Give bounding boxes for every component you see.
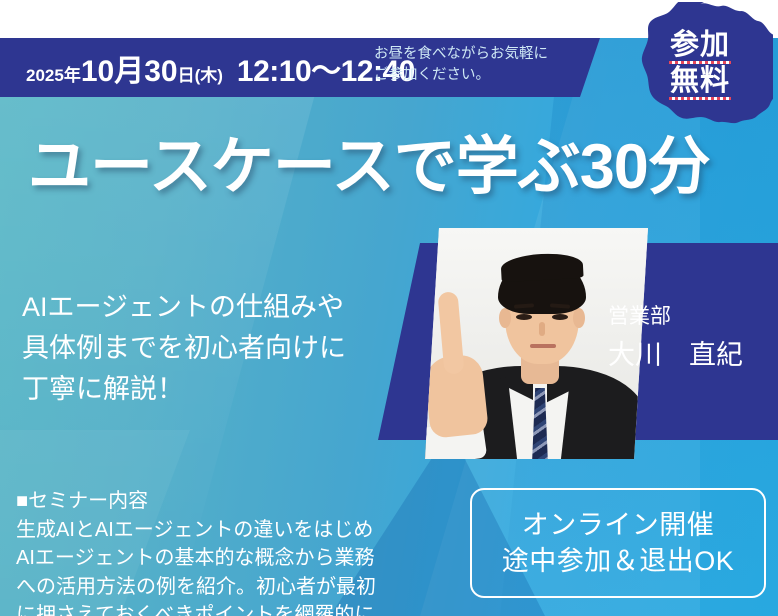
photo-eye-left (516, 314, 532, 320)
online-format: オンライン開催 (522, 507, 715, 543)
seminar-body: 生成AIとAIエージェントの違いをはじめ AIエージェントの基本的な概念から業務… (16, 519, 376, 616)
free-badge-line2: 無料 (670, 63, 730, 99)
date-day-suffix: 日(木) (178, 61, 223, 86)
photo-mouth (530, 344, 556, 348)
online-join-policy: 途中参加＆退出OK (502, 543, 735, 579)
photo-ear-left (499, 308, 511, 328)
date-month-day: 10月30 (81, 57, 178, 87)
page-title: ユースケースで学ぶ30分 (28, 133, 758, 201)
speaker-info: 営業部 大川 直紀 (608, 303, 743, 374)
seminar-poster: 2025年 10月30 日(木) 12:10〜12:40 お昼を食べながらお気軽… (0, 0, 778, 616)
online-info-box: オンライン開催 途中参加＆退出OK (470, 488, 766, 598)
seminar-description: ■セミナー内容生成AIとAIエージェントの違いをはじめ AIエージェントの基本的… (16, 459, 446, 616)
free-badge: 参加 無料 (627, 2, 773, 124)
photo-nose (539, 322, 545, 336)
seminar-heading: ■セミナー内容 (16, 487, 446, 515)
photo-eye-right (552, 314, 568, 320)
date-year: 2025年 (26, 61, 81, 86)
free-badge-text: 参加 無料 (627, 2, 773, 124)
speaker-department: 営業部 (608, 303, 743, 331)
date-text: 2025年 10月30 日(木) 12:10〜12:40 (26, 46, 415, 90)
lunch-note: お昼を食べながらお気軽に ご参加ください。 (374, 44, 548, 86)
free-badge-line1: 参加 (670, 27, 730, 63)
subtitle: AIエージェントの仕組みや 具体例までを初心者向けに 丁寧に解説！ (22, 287, 346, 410)
photo-ear-right (573, 308, 585, 328)
speaker-name: 大川 直紀 (608, 337, 743, 373)
